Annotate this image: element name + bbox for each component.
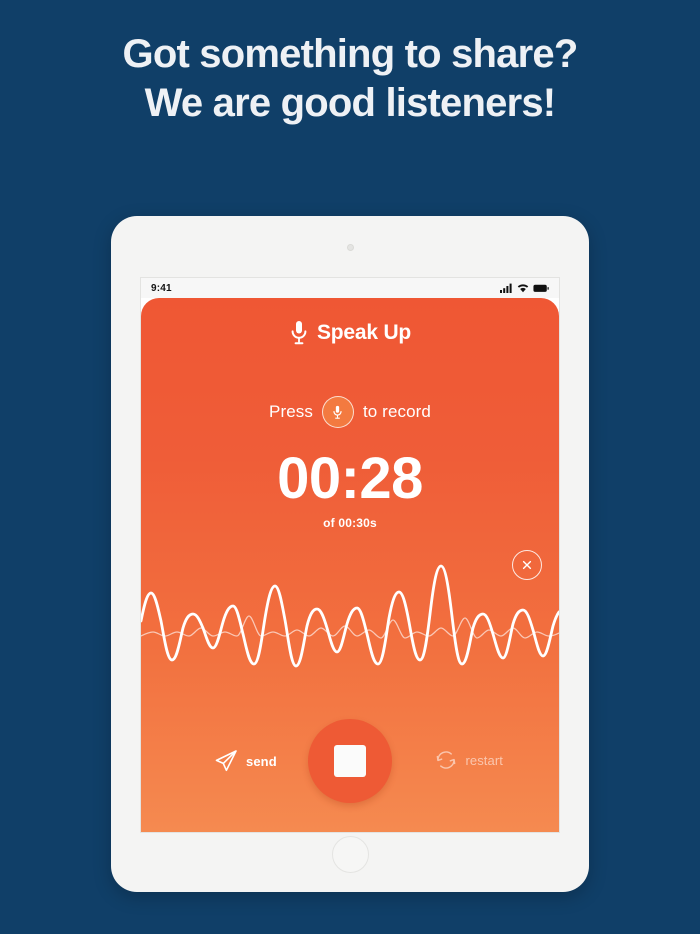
speak-up-app: Speak Up Press to record (141, 298, 559, 832)
app-header: Speak Up (141, 312, 559, 354)
cellular-signal-icon (500, 283, 513, 293)
camera-dot-icon (347, 244, 354, 251)
record-prompt-row: Press to record (141, 396, 559, 428)
audio-waveform (141, 548, 559, 678)
record-mic-button[interactable] (322, 396, 354, 428)
tablet-device-frame: 9:41 (111, 216, 589, 892)
battery-full-icon (533, 284, 549, 293)
record-prompt-prefix: Press (269, 402, 313, 422)
home-button-icon[interactable] (332, 836, 369, 873)
elapsed-timer: 00:28 (141, 448, 559, 510)
headline-line-1: Got something to share? (0, 30, 700, 79)
microphone-icon (289, 320, 309, 346)
device-screen: 9:41 (141, 278, 559, 832)
stop-square-icon (334, 745, 366, 777)
record-prompt-suffix: to record (363, 402, 431, 422)
send-paper-plane-icon (213, 748, 239, 774)
send-label: send (246, 754, 277, 769)
stop-recording-button[interactable] (308, 719, 392, 803)
headline-line-2: We are good listeners! (0, 79, 700, 128)
send-button[interactable]: send (213, 748, 277, 774)
page-headline: Got something to share? We are good list… (0, 30, 700, 128)
status-bar-icons (500, 283, 549, 293)
microphone-icon (332, 405, 343, 420)
status-bar: 9:41 (141, 278, 559, 298)
restart-button[interactable]: restart (434, 748, 503, 772)
status-bar-time: 9:41 (151, 283, 172, 294)
restart-refresh-icon (434, 748, 458, 772)
wifi-icon (517, 283, 529, 293)
recorder-controls: send restart (141, 706, 559, 816)
total-duration-label: of 00:30s (141, 516, 559, 530)
app-title: Speak Up (317, 321, 411, 345)
restart-label: restart (465, 753, 503, 768)
